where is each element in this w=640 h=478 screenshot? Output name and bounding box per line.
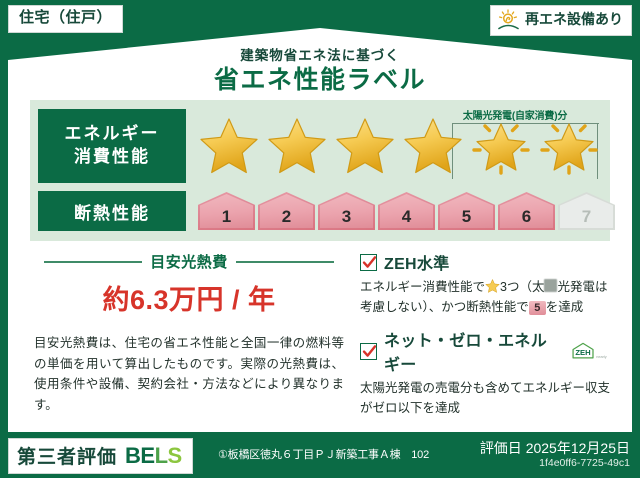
claim-net-zero-body: 太陽光発電の売電分も含めてエネルギー収支がゼロ以下を達成 xyxy=(360,378,610,418)
star-4 xyxy=(400,109,466,183)
star-icon xyxy=(335,117,395,175)
star-rating xyxy=(196,109,602,183)
performance-panel: エネルギー 消費性能 太陽光発電(自家消費)分 xyxy=(30,100,610,241)
zeh-logo-icon: ZEH nearly xyxy=(570,340,610,362)
renewable-equipment-label: 再エネ設備あり xyxy=(525,12,623,27)
lower-content: 目安光熱費 約6.3万円 / 年 目安光熱費は、住宅の省エネ性能と全国一律の燃料… xyxy=(30,250,610,418)
insulation-level-badge: 5 xyxy=(529,301,546,315)
claim-net-zero-head: ネット・ゼロ・エネルギー ZEH nearly xyxy=(360,327,610,375)
star-2 xyxy=(264,109,330,183)
insulation-level-5: 5 xyxy=(438,192,495,230)
claim-zeh-text-4: を達成 xyxy=(546,300,584,314)
energy-label-line1: エネルギー xyxy=(65,123,160,146)
insulation-level-2-label: 2 xyxy=(282,207,291,227)
insulation-level-1-label: 1 xyxy=(222,207,231,227)
star-icon xyxy=(403,117,463,175)
insulation-level-scale: 1 2 3 4 5 xyxy=(198,192,615,230)
page-title: 省エネ性能ラベル xyxy=(8,60,632,96)
third-party-eval-label: 第三者評価 xyxy=(17,442,117,469)
bels-logo: BELS xyxy=(125,443,182,469)
sun-renewable-icon xyxy=(497,9,521,31)
evaluation-date: 評価日 2025年12月25日 xyxy=(480,438,630,458)
insulation-level-4-label: 4 xyxy=(402,207,411,227)
claim-zeh-standard-title: ZEH水準 xyxy=(384,250,450,274)
redacted-character-icon xyxy=(544,279,557,292)
star-icon xyxy=(199,117,259,175)
checkbox-checked-icon xyxy=(360,343,377,360)
svg-text:ZEH: ZEH xyxy=(576,348,592,357)
claim-zeh-text-2: 3つ（太 xyxy=(500,280,544,294)
energy-performance-label: 住宅（住戸） 再エネ設備あり 建築物省エネ法に基づく 省エネ性能ラベル エネ xyxy=(0,0,640,478)
claim-net-zero-title: ネット・ゼロ・エネルギー xyxy=(384,327,561,375)
renewable-equipment-tag: 再エネ設備あり xyxy=(490,5,632,36)
star-icon xyxy=(267,117,327,175)
footer-bar: 第三者評価 BELS ①板橋区徳丸６丁目ＰＪ新築工事Ａ棟 102 評価日 202… xyxy=(0,432,640,478)
insulation-level-2: 2 xyxy=(258,192,315,230)
claim-zeh-standard-head: ZEH水準 xyxy=(360,250,610,274)
star-3 xyxy=(332,109,398,183)
claim-zeh-standard-body: エネルギー消費性能で3つ（太光発電は考慮しない）、かつ断熱性能で5を達成 xyxy=(360,277,610,317)
energy-performance-row: エネルギー 消費性能 太陽光発電(自家消費)分 xyxy=(30,106,610,186)
bels-certification-badge: 第三者評価 BELS xyxy=(8,438,193,474)
insulation-level-7-label: 7 xyxy=(582,207,591,227)
svg-text:nearly: nearly xyxy=(596,355,607,359)
claim-net-zero-energy: ネット・ゼロ・エネルギー ZEH nearly 太陽光発電の売電分も含めてエネル… xyxy=(360,327,610,418)
energy-label-line2: 消費性能 xyxy=(74,146,150,169)
star-icon-inline xyxy=(485,279,500,293)
utility-cost-heading-row: 目安光熱費 xyxy=(30,250,348,272)
insulation-performance-row: 断熱性能 1 2 3 4 xyxy=(30,188,610,234)
checkbox-checked-icon xyxy=(360,254,377,271)
claim-zeh-standard: ZEH水準 エネルギー消費性能で3つ（太光発電は考慮しない）、かつ断熱性能で5を… xyxy=(360,250,610,317)
house-type-tag: 住宅（住戸） xyxy=(8,5,123,33)
insulation-level-7: 7 xyxy=(558,192,615,230)
energy-performance-label-box: エネルギー 消費性能 xyxy=(38,109,186,183)
star-icon-solar xyxy=(471,117,531,175)
utility-cost-column: 目安光熱費 約6.3万円 / 年 目安光熱費は、住宅の省エネ性能と全国一律の燃料… xyxy=(30,250,348,418)
insulation-level-6: 6 xyxy=(498,192,555,230)
insulation-performance-label-box: 断熱性能 xyxy=(38,191,186,231)
star-6-solar xyxy=(536,109,602,183)
claims-column: ZEH水準 エネルギー消費性能で3つ（太光発電は考慮しない）、かつ断熱性能で5を… xyxy=(360,250,610,418)
utility-cost-heading: 目安光熱費 xyxy=(142,251,236,272)
property-address: ①板橋区徳丸６丁目ＰＪ新築工事Ａ棟 102 xyxy=(218,446,429,462)
utility-cost-value: 約6.3万円 / 年 xyxy=(30,278,348,317)
star-5-solar xyxy=(468,109,534,183)
insulation-level-1: 1 xyxy=(198,192,255,230)
insulation-level-6-label: 6 xyxy=(522,207,531,227)
insulation-level-4: 4 xyxy=(378,192,435,230)
insulation-level-3: 3 xyxy=(318,192,375,230)
label-sheet: 建築物省エネ法に基づく 省エネ性能ラベル エネルギー 消費性能 太陽光発電(自家… xyxy=(8,28,632,440)
evaluation-id: 1f4e0ff6-7725-49c1 xyxy=(539,457,630,469)
utility-cost-note: 目安光熱費は、住宅の省エネ性能と全国一律の燃料等の単価を用いて算出したものです。… xyxy=(30,333,348,416)
star-icon-solar xyxy=(539,117,599,175)
star-1 xyxy=(196,109,262,183)
claim-zeh-text-1: エネルギー消費性能で xyxy=(360,280,485,294)
insulation-level-3-label: 3 xyxy=(342,207,351,227)
energy-stars-area: 太陽光発電(自家消費)分 xyxy=(186,107,610,185)
insulation-level-5-label: 5 xyxy=(462,207,471,227)
